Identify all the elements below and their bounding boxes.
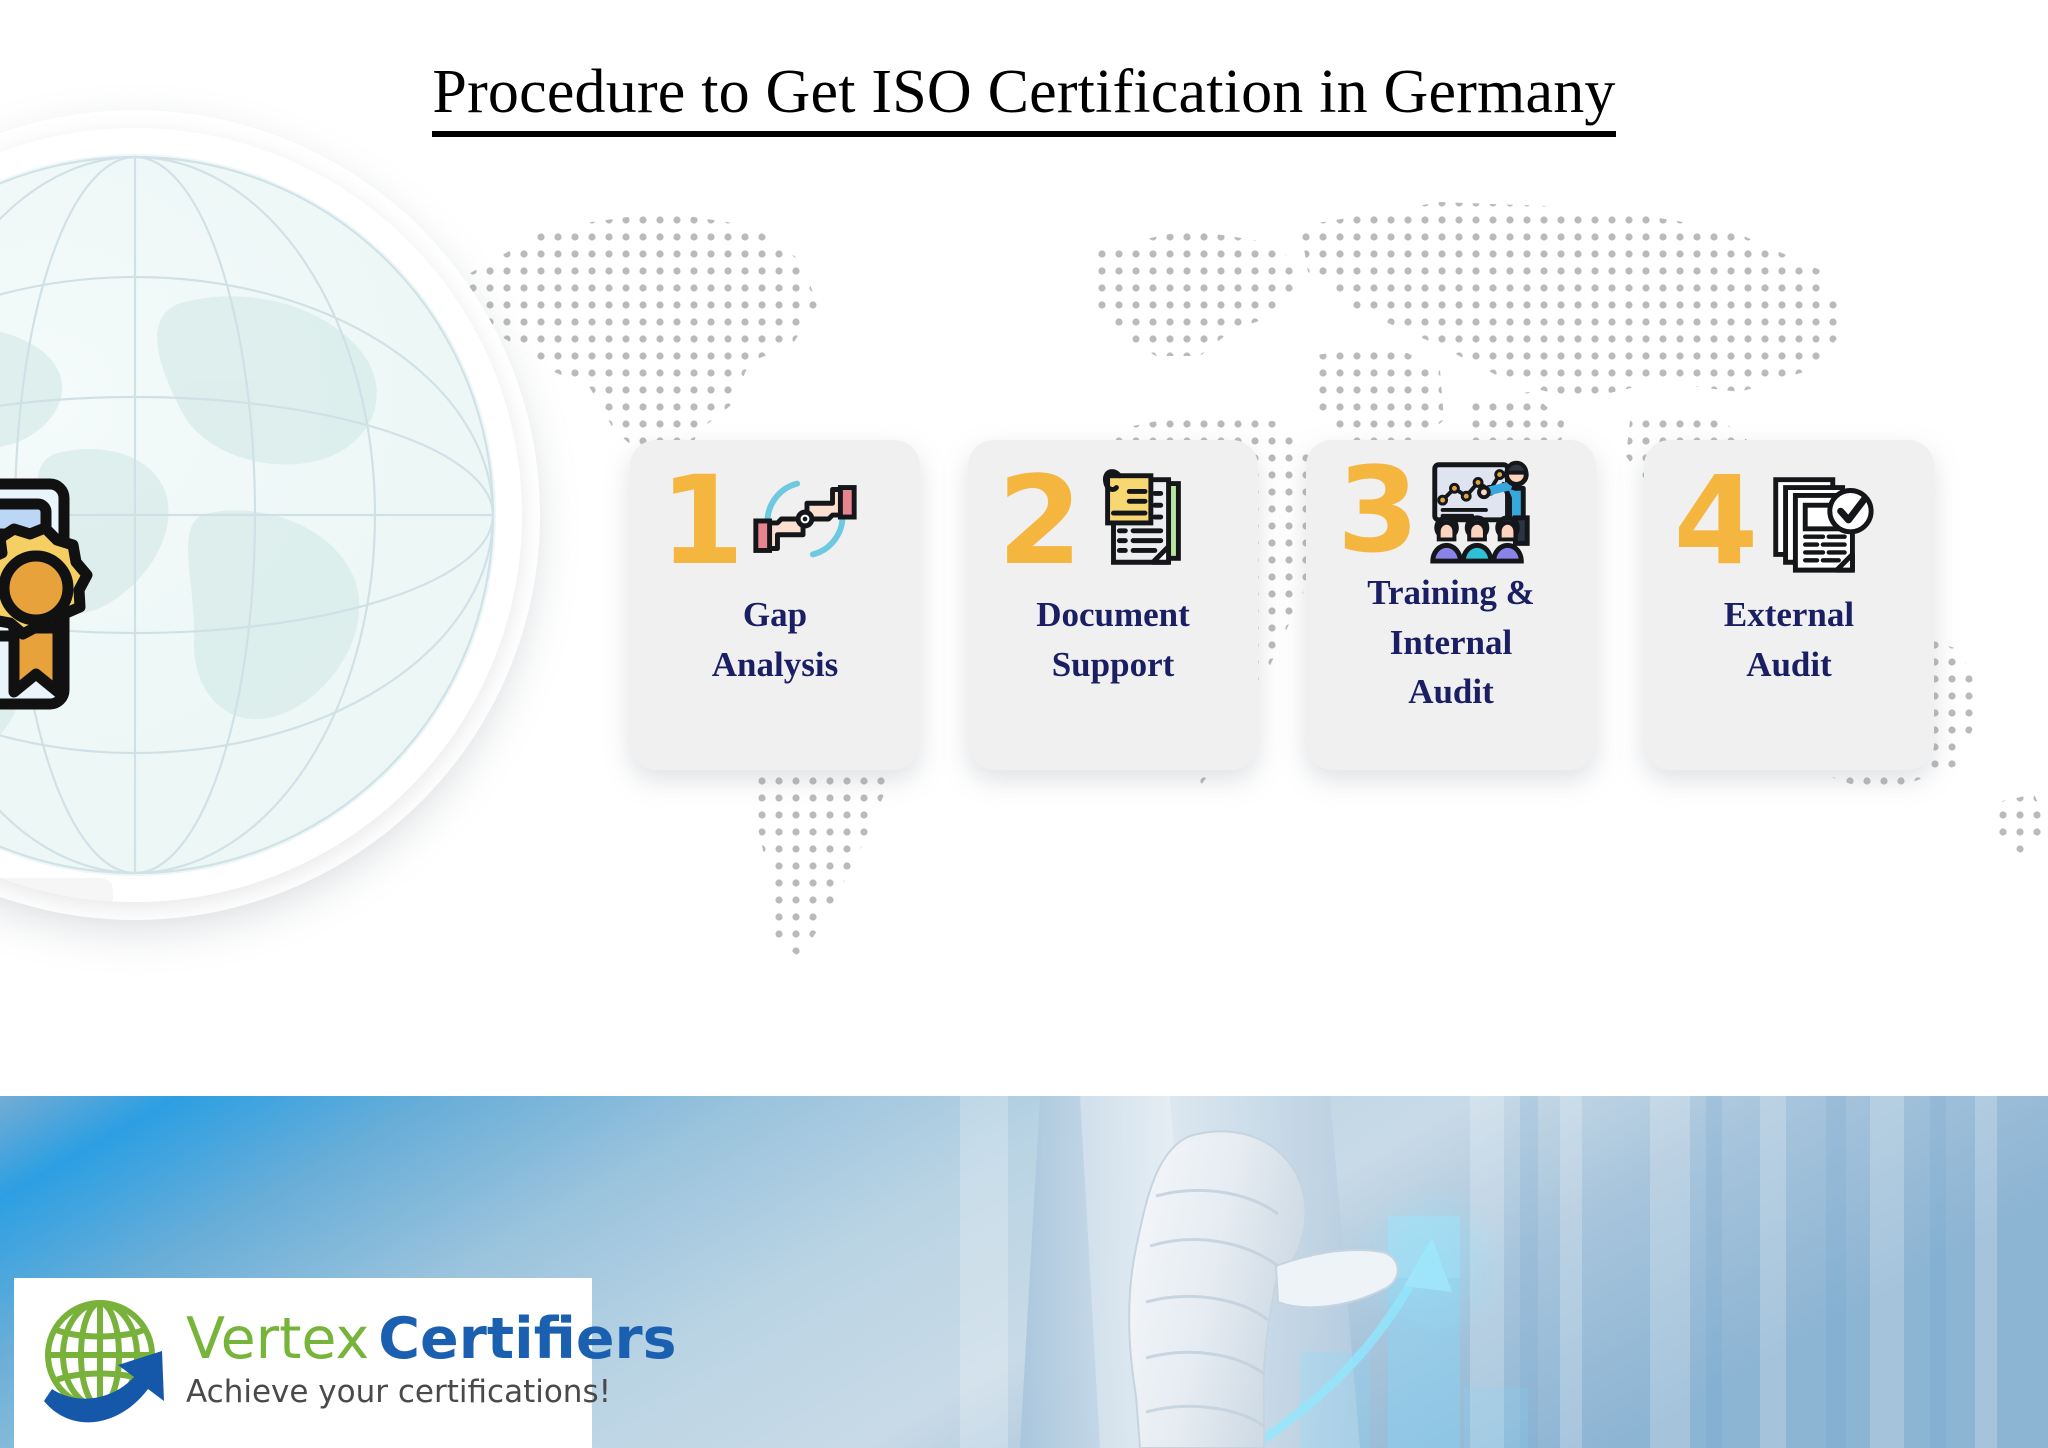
slide-canvas: Procedure to Get ISO Certification in Ge… [0,0,2048,1448]
step-label-2: Document Support [1026,590,1200,689]
step-label-1-line2: Analysis [712,640,838,690]
step-card-document-support[interactable]: 2 [968,440,1258,770]
step-label-3: Training & Internal Audit [1357,568,1545,717]
certificate-seal-icon [0,428,128,728]
vertex-certifiers-logo[interactable]: VertexCertifiers Achieve your certificat… [14,1278,592,1448]
iso-certification-label: ISO Certification [0,878,113,902]
globe-ring: ISO Certification [0,128,522,902]
steps-row: 1 Gap Analysis [630,440,2020,790]
step-label-1-line1: Gap [712,590,838,640]
step-label-4-line2: Audit [1724,640,1854,690]
step-card-header: 4 [1644,440,1934,590]
step-card-training-internal-audit[interactable]: 3 [1306,440,1596,770]
handshake-collaboration-icon [746,460,864,578]
step-label-2-line2: Support [1036,640,1190,690]
step-number-2: 2 [998,460,1083,582]
iso-globe-hero: ISO Certification [0,110,540,920]
document-stack-note-icon [1084,460,1202,578]
step-label-3-line3: Audit [1367,667,1535,717]
logo-tagline: Achieve your certifications! [186,1374,677,1410]
step-label-1: Gap Analysis [702,590,848,689]
page-title-container: Procedure to Get ISO Certification in Ge… [0,60,2048,137]
step-label-3-line2: Internal [1367,618,1535,668]
logo-text-block: VertexCertifiers Achieve your certificat… [186,1310,677,1410]
step-number-3: 3 [1337,451,1419,569]
training-presentation-icon [1421,449,1539,567]
step-card-gap-analysis[interactable]: 1 Gap Analysis [630,440,920,770]
footer-banner: VertexCertifiers Achieve your certificat… [0,1096,2048,1448]
step-card-header: 3 [1306,440,1596,568]
documents-check-icon [1760,460,1878,578]
step-card-header: 2 [968,440,1258,590]
step-card-header: 1 [630,440,920,590]
page-title: Procedure to Get ISO Certification in Ge… [432,60,1615,137]
iso-label-line1: ISO [0,892,103,902]
step-label-4: External Audit [1714,590,1864,689]
step-number-4: 4 [1674,460,1759,582]
step-label-4-line1: External [1724,590,1854,640]
logo-title: VertexCertifiers [186,1310,677,1368]
logo-word-certifiers: Certifiers [378,1306,676,1372]
logo-word-vertex: Vertex [186,1306,369,1372]
step-label-2-line1: Document [1036,590,1190,640]
step-label-3-line1: Training & [1367,568,1535,618]
step-card-external-audit[interactable]: 4 [1644,440,1934,770]
globe-arrow-icon [32,1289,180,1437]
step-number-1: 1 [660,460,745,582]
